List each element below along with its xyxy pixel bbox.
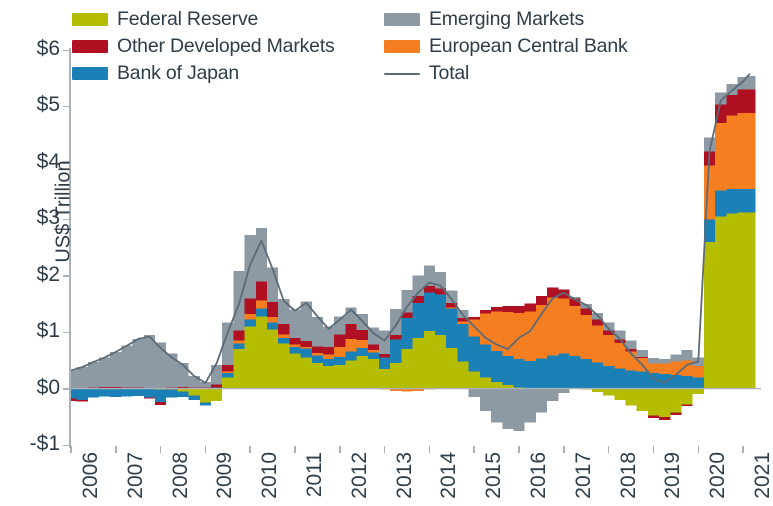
x-tick-2007 <box>115 446 117 453</box>
x-axis-tick-label-2008: 2008 <box>169 452 193 499</box>
y-label-wrap: -$1 <box>0 433 60 454</box>
y-axis-title: US$ Trillion <box>53 112 76 312</box>
x-axis-tick-label-2006: 2006 <box>79 452 103 499</box>
x-tick-2019 <box>653 446 655 453</box>
x-axis-tick-label-2019: 2019 <box>661 452 685 499</box>
y-axis-tick-label: -$1 <box>30 433 60 454</box>
chart-plot-area <box>0 0 773 506</box>
x-tick-2017 <box>563 446 565 453</box>
y-axis-tick-label: $0 <box>37 377 60 398</box>
y-label-wrap: $0 <box>0 377 60 398</box>
x-tick-2013 <box>384 446 386 453</box>
y-axis-tick-label: $6 <box>37 38 60 59</box>
x-tick-2008 <box>160 446 162 453</box>
x-axis-tick-label-2014: 2014 <box>437 452 461 499</box>
x-tick-2015 <box>473 446 475 453</box>
x-axis-tick-label-2018: 2018 <box>617 452 641 499</box>
x-tick-2020 <box>698 446 700 453</box>
y-tick-1 <box>63 332 71 334</box>
x-tick-2021 <box>742 446 744 453</box>
y-tick-0 <box>63 388 71 390</box>
x-tick-2009 <box>205 446 207 453</box>
y-label-wrap: $2 <box>0 264 60 285</box>
x-tick-2012 <box>339 446 341 453</box>
y-label-wrap: $5 <box>0 94 60 115</box>
x-axis-tick-label-2011: 2011 <box>303 452 327 497</box>
x-tick-2014 <box>429 446 431 453</box>
x-axis-tick-label-2007: 2007 <box>124 452 148 499</box>
y-tick-6 <box>63 50 71 52</box>
x-tick-2016 <box>518 446 520 453</box>
x-tick-2011 <box>294 446 296 453</box>
y-label-wrap: $4 <box>0 151 60 172</box>
x-axis-tick-label-2015: 2015 <box>482 452 506 499</box>
x-axis-tick-label-2010: 2010 <box>258 452 282 499</box>
x-tick-2010 <box>249 446 251 453</box>
y-label-wrap: $6 <box>0 38 60 59</box>
y-label-wrap: $3 <box>0 207 60 228</box>
y-tick-5 <box>63 106 71 108</box>
x-tick-2006 <box>70 446 72 453</box>
y-label-wrap: $1 <box>0 320 60 341</box>
chart-root: Federal Reserve Other Developed Markets … <box>0 0 773 506</box>
y-axis-tick-label: $1 <box>37 320 60 341</box>
x-axis-tick-label-2016: 2016 <box>527 452 551 499</box>
x-axis-tick-label-2020: 2020 <box>706 452 730 499</box>
x-axis-tick-label-2021: 2021 <box>751 452 773 499</box>
x-tick-2018 <box>608 446 610 453</box>
x-axis-tick-label-2013: 2013 <box>393 452 417 499</box>
x-axis-tick-label-2017: 2017 <box>572 452 596 499</box>
x-axis-tick-label-2012: 2012 <box>348 452 372 499</box>
x-axis-tick-label-2009: 2009 <box>213 452 237 499</box>
